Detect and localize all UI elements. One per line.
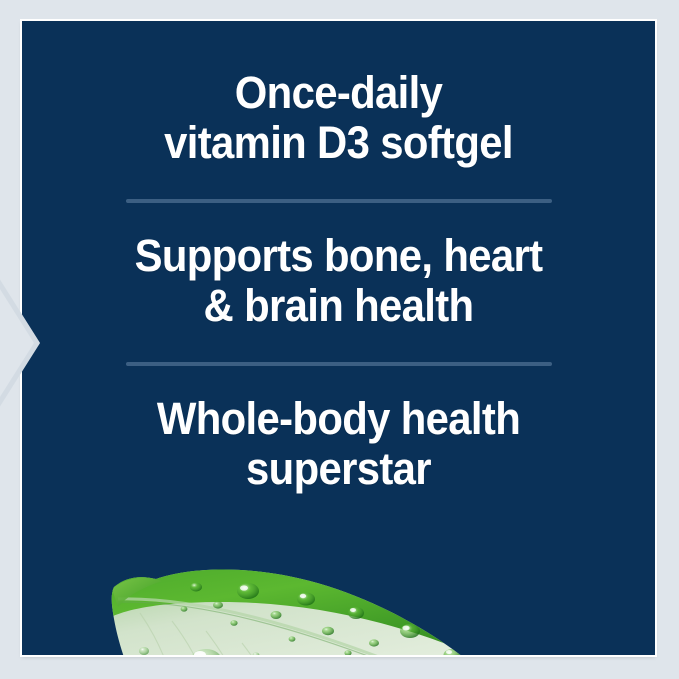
water-droplets-upper — [181, 583, 483, 656]
leaf-tip — [112, 578, 162, 607]
claims-stack: Once-daily vitamin D3 softgel Supports b… — [22, 21, 655, 494]
leaf-veins — [140, 613, 364, 655]
green-leaf-with-water-droplets-icon — [100, 569, 530, 655]
claim-dosage: Once-daily vitamin D3 softgel — [44, 68, 633, 169]
leaf-body — [100, 569, 530, 655]
leaf-midrib — [118, 599, 530, 655]
divider-2 — [22, 362, 655, 366]
leaf-upper-surface — [100, 569, 530, 655]
claim-benefits: Supports bone, heart & brain health — [44, 231, 633, 332]
divider-1 — [22, 199, 655, 203]
divider-rule — [126, 362, 552, 366]
water-droplets-lower — [131, 647, 396, 655]
claim-tagline: Whole-body health superstar — [44, 394, 633, 495]
leaf-midrib-shadow — [118, 602, 530, 655]
divider-rule — [126, 199, 552, 203]
feature-panel: Once-daily vitamin D3 softgel Supports b… — [22, 21, 655, 655]
product-feature-image: Once-daily vitamin D3 softgel Supports b… — [0, 0, 679, 679]
